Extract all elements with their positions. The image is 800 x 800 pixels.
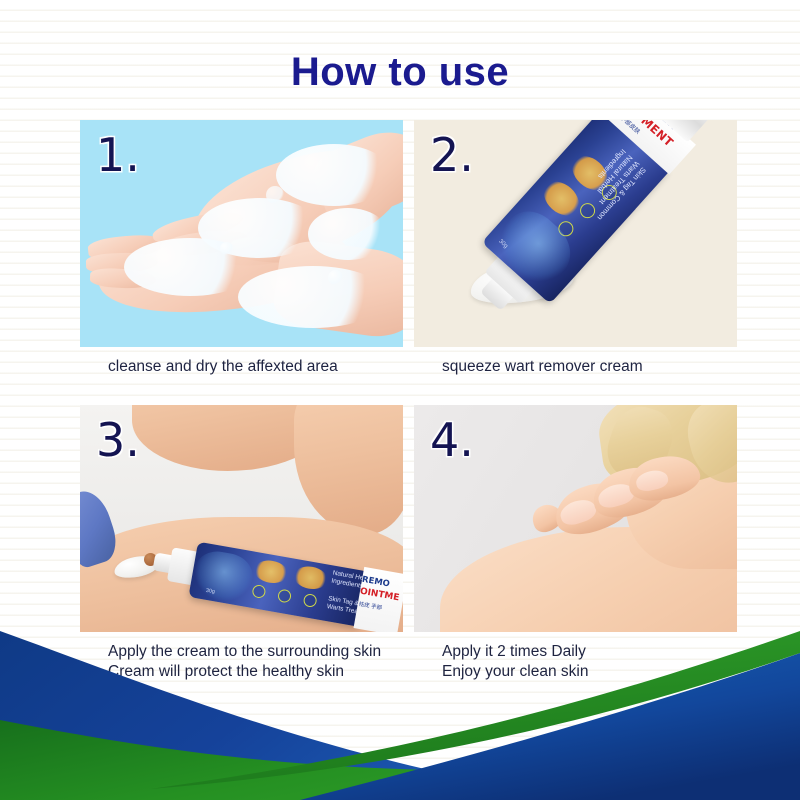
step-2-photo: Natural Herbal Ingredients Skin Tag & Co… [414,120,737,347]
page-title: How to use [0,50,800,95]
step-caption-2: squeeze wart remover cream [414,357,737,377]
how-to-use-infographic: How to use 1. clean [0,0,800,800]
step-card-4: 4. Apply it 2 times Daily Enjoy your cle… [414,405,737,683]
benefit-icon-3a [251,584,266,599]
step-caption-3: Apply the cream to the surrounding skin … [80,642,403,683]
suds-patch-4 [238,266,388,328]
step-caption-4: Apply it 2 times Daily Enjoy your clean … [414,642,737,683]
suds-bubble-1 [266,186,284,204]
neck-column [294,405,403,535]
tube-hand-graphic-3 [191,548,256,605]
tube-size-mark-3: 30g [205,588,215,596]
step-4-photo: 4. [414,405,737,632]
banner-green-left [0,720,800,800]
step-1-photo: 1. [80,120,403,347]
suds-bubble-3 [328,270,343,285]
tube-chinese-text-3: 祛疣 手部 [358,600,383,612]
benefit-icon-3b [277,588,292,603]
suds-patch-3 [124,238,256,296]
ointment-tube: Natural Herbal Ingredients Skin Tag & Co… [448,120,692,341]
herb-glow-3b [292,564,329,592]
step-card-2: Natural Herbal Ingredients Skin Tag & Co… [414,120,737,377]
step-number-1: 1. [96,128,140,182]
step-number-3: 3. [96,413,140,467]
benefit-icon-3c [303,593,318,608]
step-caption-1: cleanse and dry the affexted area [80,357,403,377]
step-3-photo: Natural Herbal Ingredients Skin Tag & Co… [80,405,403,632]
herb-glow-3a [252,558,289,586]
step-card-1: 1. cleanse and dry the affexted area [80,120,403,377]
suds-patch-1 [276,144,392,206]
step-number-4: 4. [430,413,474,467]
suds-patch-5 [308,208,388,260]
step-card-3: Natural Herbal Ingredients Skin Tag & Co… [80,405,403,683]
suds-bubble-2 [220,242,233,255]
step-number-2: 2. [430,128,474,182]
